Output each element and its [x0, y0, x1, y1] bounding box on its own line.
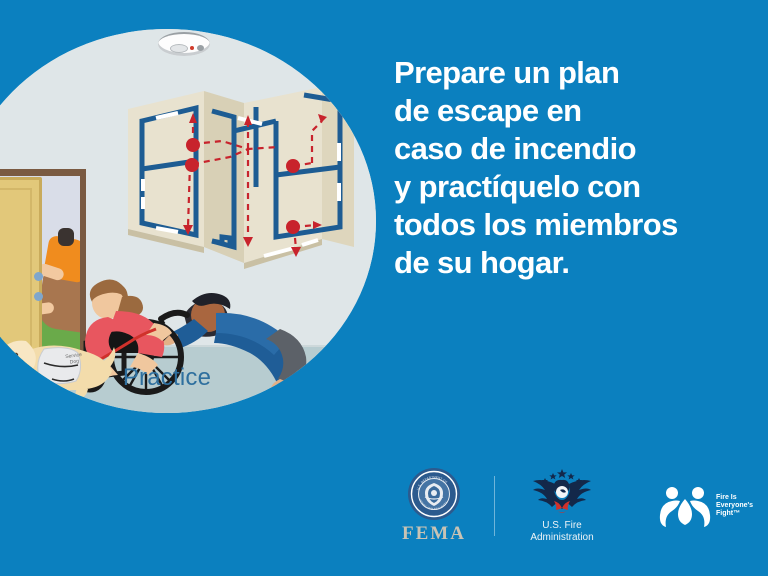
door-knob-icon: [34, 272, 43, 281]
person-exiting-door: [58, 228, 74, 246]
fire-is-everyones-fight-logo: Fire Is Everyone's Fight™: [659, 485, 753, 527]
dhs-seal-icon: U.S. DEPARTMENT OF HOMELAND SECURITY: [407, 467, 461, 521]
practice-caption: Practice: [0, 364, 376, 392]
headline-line-5: todos los miembros: [394, 206, 750, 244]
logo-divider: [494, 476, 495, 536]
usfa-wordmark: U.S. Fire Administration: [530, 520, 593, 544]
usfa-logo: U.S. Fire Administration: [509, 468, 615, 544]
escape-plan-map: [126, 87, 356, 287]
headline-line-4: y practíquelo con: [394, 168, 750, 206]
smoke-alarm-icon: [158, 32, 210, 56]
headline-line-1: Prepare un plan: [394, 54, 750, 92]
fema-wordmark: FEMA: [402, 523, 466, 545]
footer-logo-row: U.S. DEPARTMENT OF HOMELAND SECURITY FEM…: [386, 466, 758, 546]
fief-wordmark: Fire Is Everyone's Fight™: [716, 494, 753, 519]
headline-line-2: de escape en: [394, 92, 750, 130]
door-hinge-icon: [34, 292, 43, 301]
fema-logo: U.S. DEPARTMENT OF HOMELAND SECURITY FEM…: [386, 467, 482, 545]
headline-line-3: caso de incendio: [394, 130, 750, 168]
usfa-eagle-icon: [531, 468, 593, 518]
page-title: Prepare un plan de escape en caso de inc…: [394, 54, 750, 282]
fief-figures-icon: [659, 485, 711, 527]
headline-line-6: de su hogar.: [394, 244, 750, 282]
poster-canvas: Service Dog Practice Prepare un plan de …: [0, 0, 768, 576]
illustration-circle: Service Dog Practice: [0, 29, 376, 413]
